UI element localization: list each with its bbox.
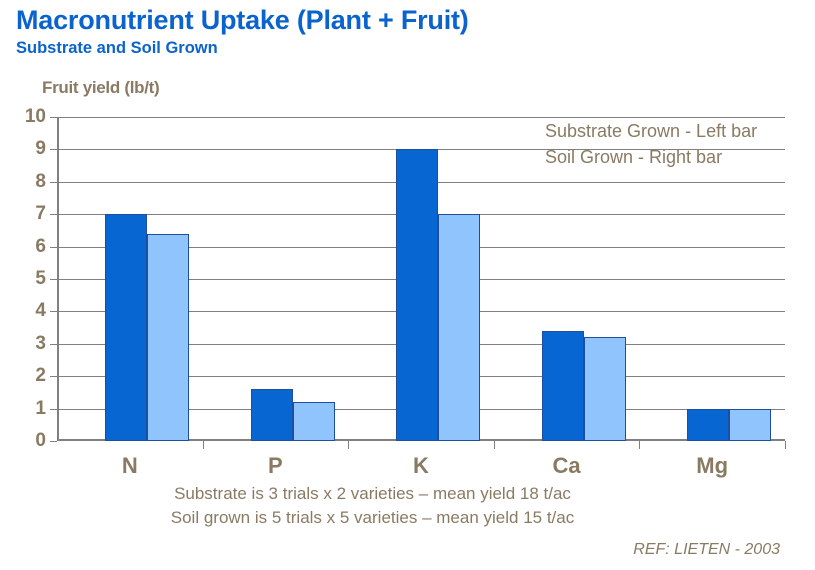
- y-axis-tick-label: 8: [35, 171, 46, 193]
- bar-group: [348, 117, 494, 441]
- page-title: Macronutrient Uptake (Plant + Fruit): [16, 4, 469, 36]
- y-axis-tick: [50, 441, 57, 442]
- chart-legend: Substrate Grown - Left bar Soil Grown - …: [545, 118, 757, 170]
- chart-subtitle: Substrate and Soil Grown: [16, 37, 469, 59]
- bar-k-soil[interactable]: [438, 214, 480, 441]
- y-axis-tick-label: 6: [35, 236, 46, 258]
- bar-mg-soil[interactable]: [729, 409, 771, 441]
- y-axis-title: Fruit yield (lb/t): [42, 78, 159, 98]
- x-axis-label-n: N: [122, 453, 138, 479]
- y-axis-tick: [50, 117, 57, 118]
- chart-annotations: Substrate is 3 trials x 2 varieties – me…: [0, 482, 745, 530]
- y-axis-tick: [50, 214, 57, 215]
- bar-ca-soil[interactable]: [584, 337, 626, 441]
- x-axis-label-p: P: [268, 453, 283, 479]
- title-block: Macronutrient Uptake (Plant + Fruit) Sub…: [16, 4, 469, 59]
- y-axis-tick: [50, 182, 57, 183]
- bar-p-substrate[interactable]: [251, 389, 293, 441]
- bar-group: [57, 117, 203, 441]
- x-axis-tick: [494, 441, 495, 449]
- legend-item-soil: Soil Grown - Right bar: [545, 144, 757, 170]
- y-axis-tick-label: 10: [25, 106, 46, 128]
- bar-group: [203, 117, 349, 441]
- y-axis-tick: [50, 311, 57, 312]
- x-axis-tick: [203, 441, 204, 449]
- x-axis-label-mg: Mg: [696, 453, 728, 479]
- chart-reference: REF: LIETEN - 2003: [633, 541, 780, 559]
- y-axis-tick-label: 2: [35, 365, 46, 387]
- bar-n-substrate[interactable]: [105, 214, 147, 441]
- bar-ca-substrate[interactable]: [542, 331, 584, 441]
- y-axis-tick: [50, 344, 57, 345]
- y-axis-tick-label: 5: [35, 268, 46, 290]
- y-axis-tick-label: 1: [35, 398, 46, 420]
- y-axis-tick: [50, 247, 57, 248]
- y-axis-tick: [50, 409, 57, 410]
- x-axis-label-ca: Ca: [553, 453, 581, 479]
- y-axis-tick-label: 9: [35, 138, 46, 160]
- y-axis-tick-label: 3: [35, 333, 46, 355]
- bar-p-soil[interactable]: [293, 402, 335, 441]
- y-axis-tick-label: 0: [35, 430, 46, 452]
- bar-k-substrate[interactable]: [396, 149, 438, 441]
- y-axis-tick-label: 7: [35, 203, 46, 225]
- y-axis-tick: [50, 149, 57, 150]
- bar-n-soil[interactable]: [147, 234, 189, 441]
- y-axis-tick-label: 4: [35, 300, 46, 322]
- x-axis-tick: [348, 441, 349, 449]
- y-axis-tick: [50, 376, 57, 377]
- annotation-soil: Soil grown is 5 trials x 5 varieties – m…: [0, 506, 745, 530]
- y-axis-tick: [50, 279, 57, 280]
- bar-mg-substrate[interactable]: [687, 409, 729, 441]
- legend-item-substrate: Substrate Grown - Left bar: [545, 118, 757, 144]
- annotation-substrate: Substrate is 3 trials x 2 varieties – me…: [0, 482, 745, 506]
- x-axis-label-k: K: [413, 453, 429, 479]
- x-axis-tick: [639, 441, 640, 449]
- x-axis-tick: [785, 441, 786, 449]
